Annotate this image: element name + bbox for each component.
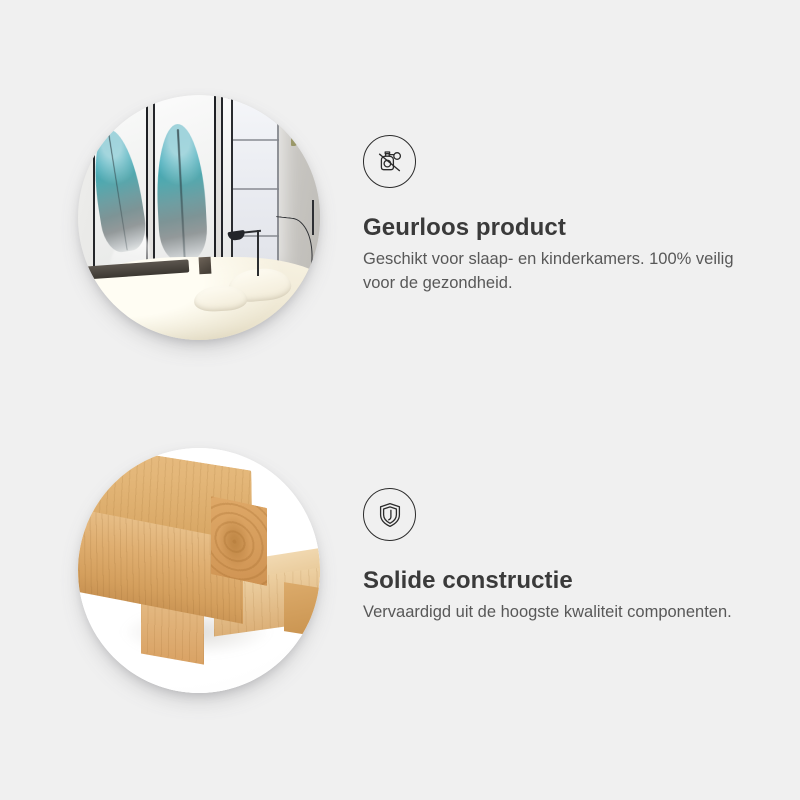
wood-plank-back-end xyxy=(284,582,320,637)
window-mullion xyxy=(228,139,279,141)
picture-frame xyxy=(199,256,212,274)
feature-content-1: Solide constructie Vervaardigd uit de ho… xyxy=(320,448,800,625)
shield-icon xyxy=(363,488,416,541)
feather-rib xyxy=(108,135,128,251)
no-fragrance-glyph xyxy=(373,145,407,179)
bedroom-feather-wall-art-photo xyxy=(78,95,320,340)
wooden-beams-photo xyxy=(78,448,320,693)
floor-lamp-stem xyxy=(257,230,259,277)
wood-beam-main-end-grain xyxy=(211,496,267,586)
feature-description: Geschikt voor slaap- en kinderkamers. 10… xyxy=(363,248,745,295)
window-mullion xyxy=(228,188,279,190)
feature-media-0 xyxy=(78,95,320,340)
feature-content-0: Geurloos product Geschikt voor slaap- en… xyxy=(320,95,800,295)
feature-media-1 xyxy=(78,448,320,693)
feature-title: Geurloos product xyxy=(363,214,800,242)
photo-scene-wood xyxy=(78,448,320,693)
wire-decor xyxy=(312,200,314,234)
feature-title: Solide constructie xyxy=(363,567,800,595)
feather-rib xyxy=(177,130,185,262)
feature-block-solide-constructie: Solide constructie Vervaardigd uit de ho… xyxy=(0,448,800,693)
no-fragrance-icon xyxy=(363,135,416,188)
product-features-panel: Geurloos product Geschikt voor slaap- en… xyxy=(0,0,800,800)
photo-scene-bedroom xyxy=(78,95,320,340)
shield-glyph xyxy=(373,498,407,532)
feature-description: Vervaardigd uit de hoogste kwaliteit com… xyxy=(363,601,745,625)
feature-block-geurloos-product: Geurloos product Geschikt voor slaap- en… xyxy=(0,95,800,340)
